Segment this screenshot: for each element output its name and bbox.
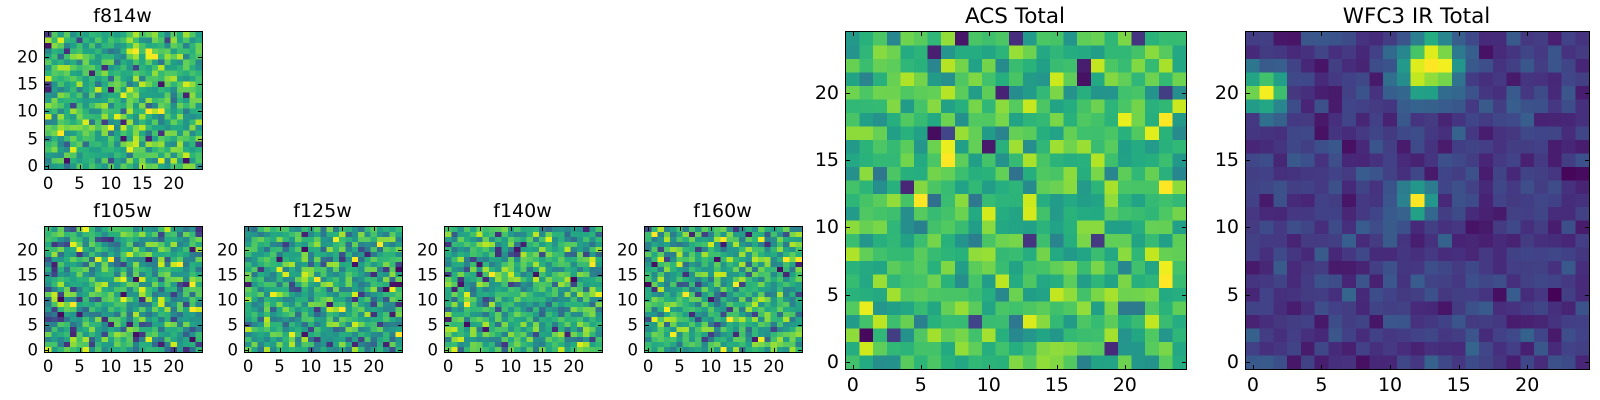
figure-canvas: f814w0510152005101520f105w05101520051015… — [0, 0, 1600, 400]
panel-wfc3-ir-total-yticklabel: 10 — [1185, 216, 1239, 238]
panel-wfc3-ir-total-xtick-top — [1321, 32, 1322, 36]
panel-wfc3-ir-total-ytick — [1246, 227, 1250, 228]
panel-wfc3-ir-total-xticklabel: 15 — [1447, 374, 1471, 396]
panel-wfc3-ir-total-heatmap — [1246, 32, 1589, 369]
panel-wfc3-ir-total-ytick-right — [1585, 227, 1589, 228]
panel-wfc3-ir-total-xticklabel: 10 — [1378, 374, 1402, 396]
panel-wfc3-ir-total-xtick — [1321, 365, 1322, 369]
panel-wfc3-ir-total-ytick — [1246, 362, 1250, 363]
panel-wfc3-ir-total-ytick-right — [1585, 160, 1589, 161]
panel-wfc3-ir-total-ytick — [1246, 295, 1250, 296]
panel-wfc3-ir-total-yticklabel: 0 — [1185, 351, 1239, 373]
panel-wfc3-ir-total-xtick — [1459, 365, 1460, 369]
panel-wfc3-ir-total-xtick — [1253, 365, 1254, 369]
panel-wfc3-ir-total-xtick-top — [1527, 32, 1528, 36]
panel-wfc3-ir-total-ytick-right — [1585, 93, 1589, 94]
panel-wfc3-ir-total-ytick — [1246, 93, 1250, 94]
panel-wfc3-ir-total-xtick — [1527, 365, 1528, 369]
panel-wfc3-ir-total-yticklabel: 15 — [1185, 149, 1239, 171]
panel-wfc3-ir-total-xtick-top — [1459, 32, 1460, 36]
panel-wfc3-ir-total-xticklabel: 20 — [1515, 374, 1539, 396]
panel-wfc3-ir-total-xtick — [1390, 365, 1391, 369]
panel-wfc3-ir-total-xticklabel: 0 — [1247, 374, 1259, 396]
panel-wfc3-ir-total: WFC3 IR Total0510152005101520 — [0, 0, 1600, 400]
panel-wfc3-ir-total-yticklabel: 5 — [1185, 284, 1239, 306]
panel-wfc3-ir-total-ytick-right — [1585, 295, 1589, 296]
panel-wfc3-ir-total-xtick-top — [1390, 32, 1391, 36]
panel-wfc3-ir-total-xtick-top — [1253, 32, 1254, 36]
panel-wfc3-ir-total-title: WFC3 IR Total — [1245, 4, 1588, 29]
panel-wfc3-ir-total-ytick — [1246, 160, 1250, 161]
panel-wfc3-ir-total-ytick-right — [1585, 362, 1589, 363]
panel-wfc3-ir-total-axes — [1245, 31, 1590, 370]
panel-wfc3-ir-total-yticklabel: 20 — [1185, 82, 1239, 104]
panel-wfc3-ir-total-xticklabel: 5 — [1315, 374, 1327, 396]
